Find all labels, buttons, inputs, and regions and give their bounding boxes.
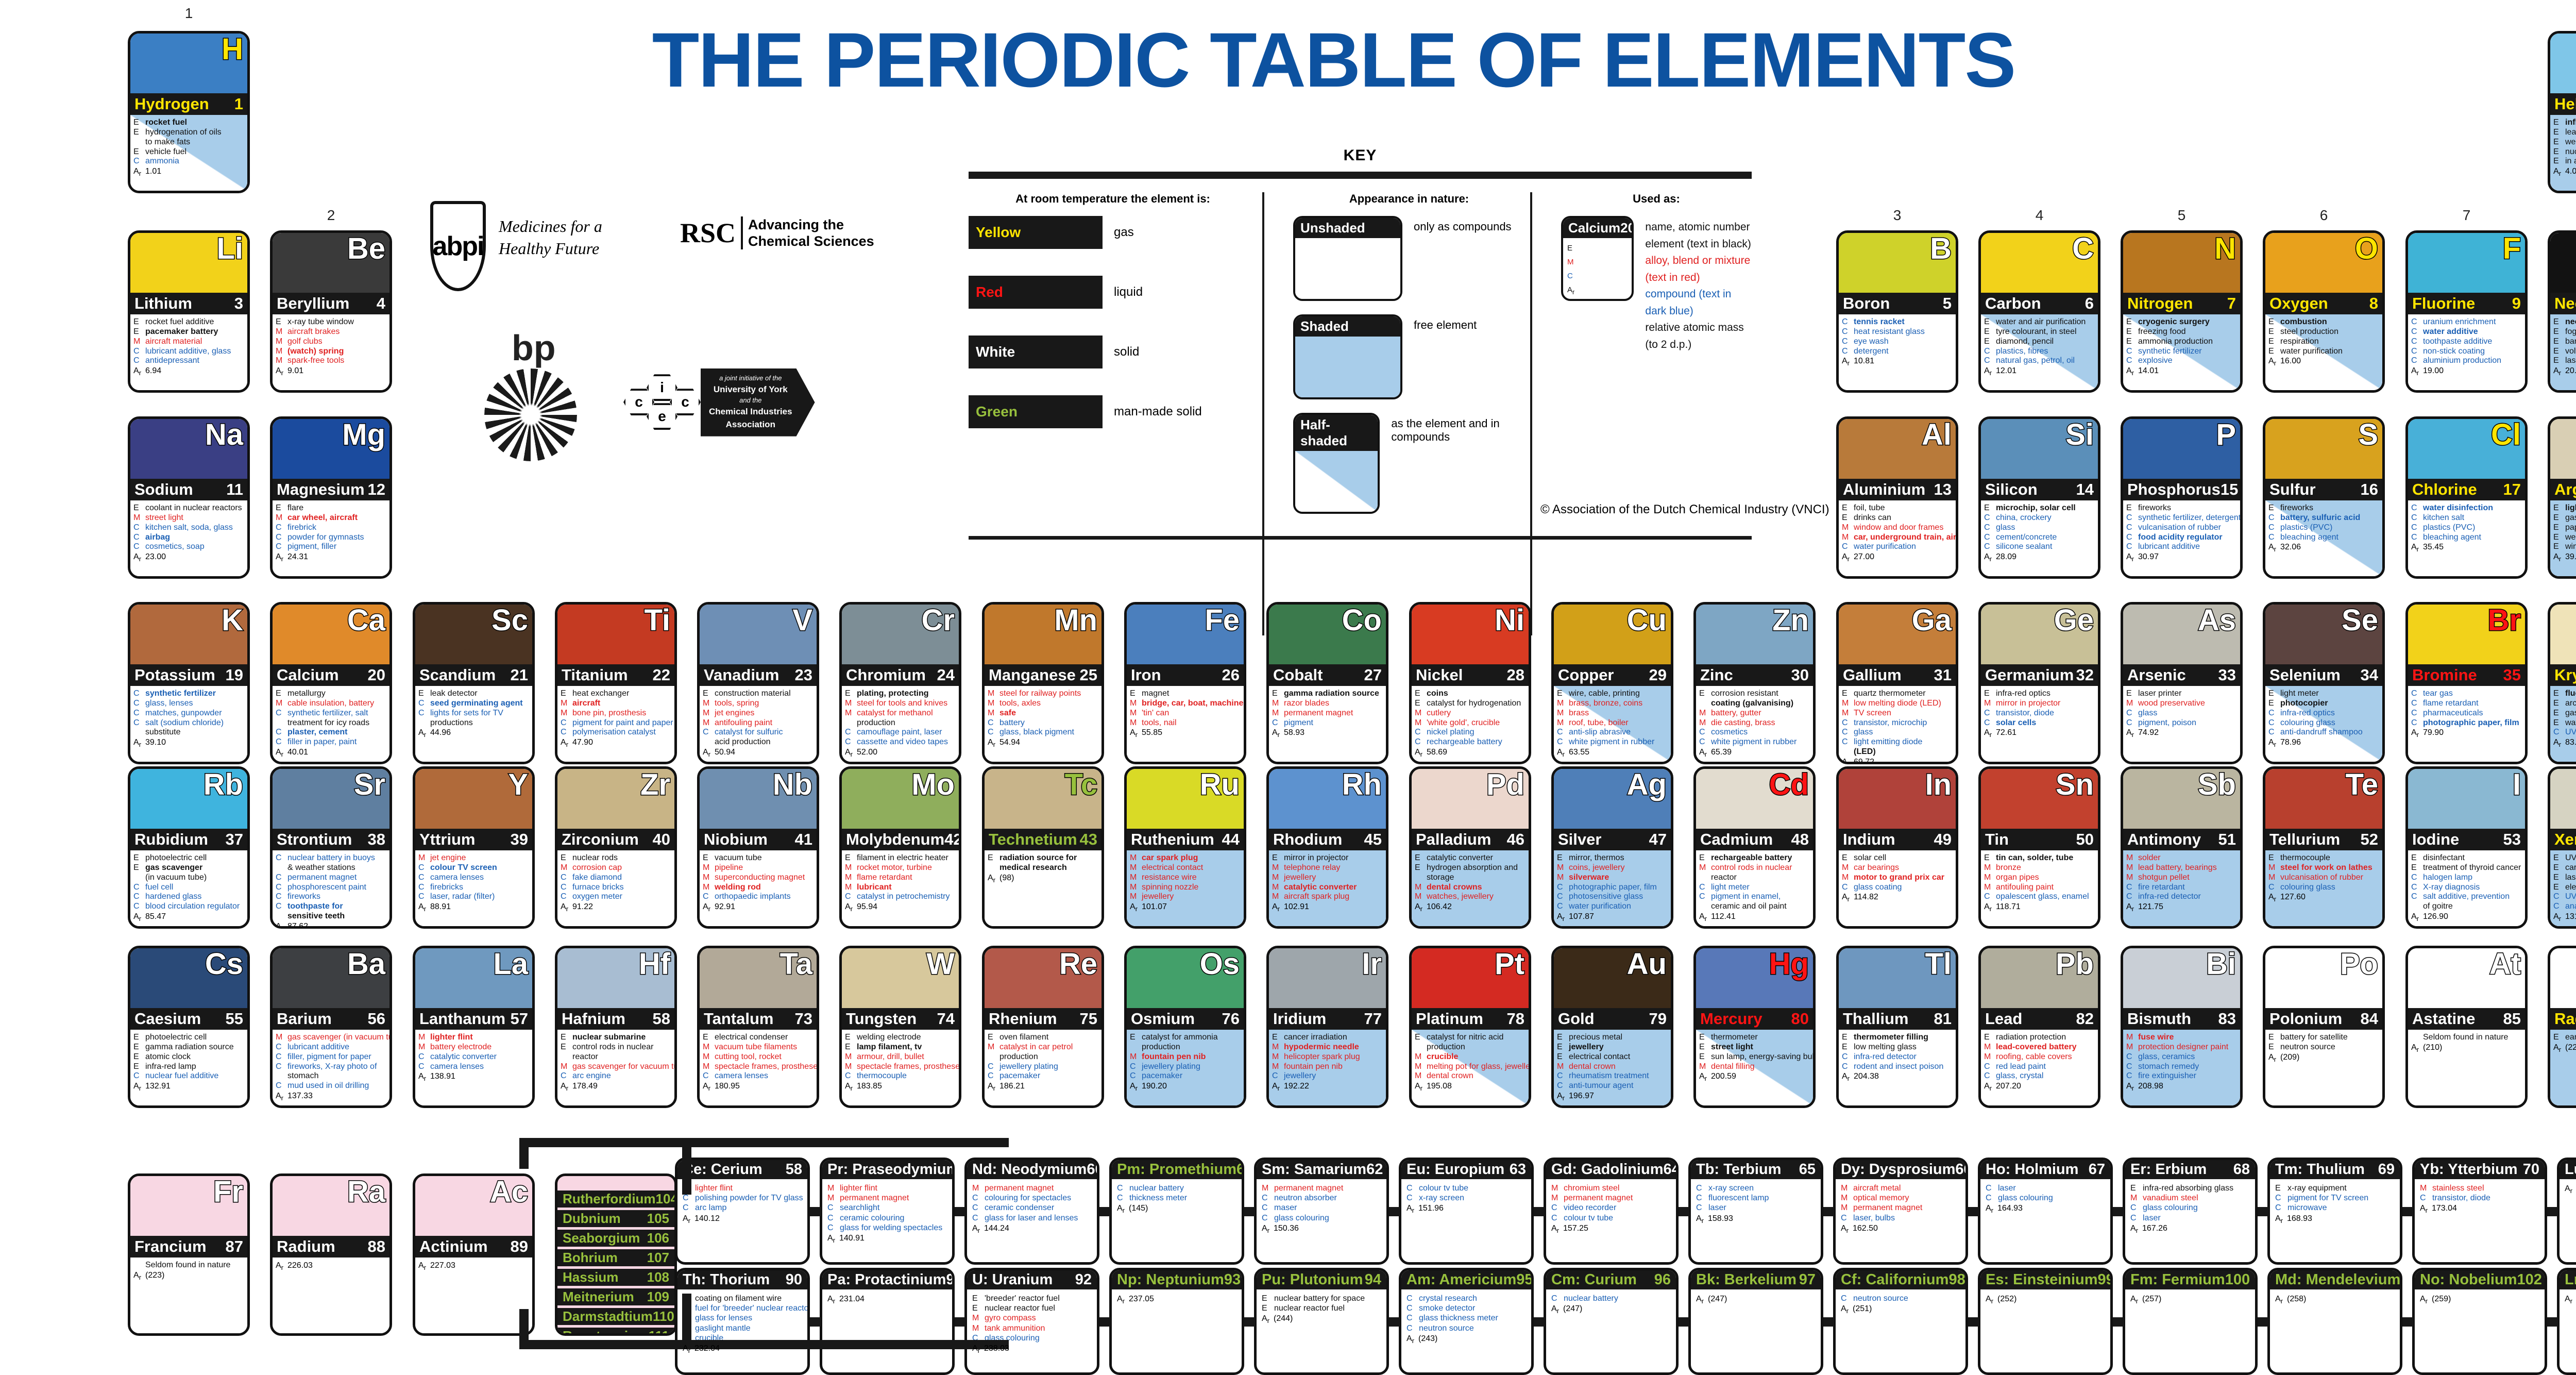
element-uses: Emicrochip, solar cellCchina, crockeryCg… <box>1981 500 2098 576</box>
ar-value: 186.21 <box>999 1082 1025 1093</box>
use-row: Evoltage probe <box>2553 347 2576 357</box>
element-cell-co[interactable]: CoCobalt27Egamma radiation sourceMrazor … <box>1266 602 1388 764</box>
element-cell-be[interactable]: BeBeryllium4Ex-ray tube windowMaircraft … <box>270 230 392 393</box>
series-name-bar: Eu: Europium63 <box>1401 1160 1531 1179</box>
group-number-2: 2 <box>311 207 352 224</box>
use-text: silverware <box>1569 873 1668 883</box>
element-cell-ne[interactable]: NeNeon10Eneon lightEfog light, tv tubeEb… <box>2548 230 2576 393</box>
use-tag: M <box>972 1183 980 1193</box>
element-name-bar: Carbon6 <box>1981 293 2098 314</box>
use-tag: M <box>703 1062 711 1072</box>
element-cell-s[interactable]: SSulfur16EfireworksCbattery, sulfuric ac… <box>2263 416 2385 579</box>
atomic-number: 40 <box>653 830 670 849</box>
use-text: colouring glass <box>2280 718 2379 728</box>
use-row: Ccosmetics, soap <box>133 542 244 552</box>
element-symbol: Y <box>508 770 528 800</box>
lanthanide-cell-yb[interactable]: Yb: Ytterbium70Mstainless steelCtransist… <box>2412 1158 2547 1265</box>
key-appearance-swatch: Shaded <box>1293 314 1402 399</box>
element-cell-ca[interactable]: CaCalcium20EmetallurgyMcable insulation,… <box>270 602 392 764</box>
element-cell-cl[interactable]: ClChlorine17Cwater disinfectionCkitchen … <box>2405 416 2528 579</box>
uses-list: Econstruction materialMtools, springMjet… <box>703 689 814 747</box>
use-row: Cheat resistant glass <box>1842 327 1953 337</box>
use-row: Clight emitting diode <box>1842 737 1953 747</box>
actinide-cell-md[interactable]: Md: Mendelevium101Ar(258) <box>2267 1268 2402 1375</box>
use-tag: C <box>1842 737 1850 747</box>
lanthanide-cell-gd[interactable]: Gd: Gadolinium64Mchromium steelMpermanen… <box>1544 1158 1679 1265</box>
element-cell-cs[interactable]: CsCaesium55Ephotoelectric cellEgamma rad… <box>128 946 250 1108</box>
use-row: production <box>988 1052 1098 1062</box>
element-cell-ta[interactable]: TaTantalum73Eelectrical condenserMvacuum… <box>697 946 819 1108</box>
ar-label: Ar <box>1406 1334 1415 1345</box>
use-tag: C <box>1130 1062 1138 1072</box>
use-row: Mbronze <box>1984 863 2095 873</box>
use-tag: M <box>1841 1203 1849 1213</box>
use-row: Evacuum tube <box>703 853 814 863</box>
use-row: Csynthetic fertilizer <box>133 689 244 699</box>
element-illustration: Rn <box>2550 948 2576 1008</box>
series-element-name: Tm: Thulium <box>2275 1161 2365 1178</box>
element-cell-pd[interactable]: PdPalladium46Ecatalytic converterEhydrog… <box>1409 766 1531 929</box>
use-text: lamp filament, tv <box>857 1043 956 1052</box>
relative-atomic-mass: Ar19.00 <box>2411 366 2522 377</box>
relative-atomic-mass: Ar(243) <box>1406 1334 1527 1345</box>
ar-value: 121.75 <box>2138 902 2163 913</box>
element-cell-rh[interactable]: RhRhodium45Emirror in projectorMtelephon… <box>1266 766 1388 929</box>
key-appearance-row: Unshadedonly as compounds <box>1293 216 1525 301</box>
use-row: Ccolouring for spectacles <box>972 1193 1093 1203</box>
use-row: Mtools, nail <box>1130 718 1241 728</box>
relative-atomic-mass: Ar168.93 <box>2275 1214 2396 1225</box>
ar-label: Ar <box>133 912 142 923</box>
use-text: spectacle frames, prostheses <box>857 1062 959 1072</box>
actinide-cell-pa[interactable]: Pa: Protactinium91Ar231.04 <box>820 1268 955 1375</box>
use-tag: C <box>1984 892 1992 902</box>
superheavy-row[interactable]: Darmstadtium110 <box>557 1308 674 1325</box>
series-element-name: Th: Thorium <box>683 1271 770 1288</box>
element-cell-rn[interactable]: RnRadon86Eearthquake predictorAr(222) <box>2548 946 2576 1108</box>
use-row: Mjet engines <box>703 709 814 718</box>
use-text: anti-tumour agent <box>1569 1081 1668 1091</box>
element-name: Nitrogen <box>2127 294 2193 313</box>
use-text: UV laser <box>2565 728 2576 737</box>
element-illustration: Ni <box>1412 605 1529 664</box>
element-cell-sb[interactable]: SbAntimony51MsolderMlead battery, bearin… <box>2121 766 2243 929</box>
use-text: nuclear battery <box>1564 1294 1618 1303</box>
uses-list: Erocket fuel additiveEpacemaker batteryM… <box>133 317 244 366</box>
lanthanide-cell-er[interactable]: Er: Erbium68Einfra-red absorbing glassMv… <box>2123 1158 2258 1265</box>
element-symbol: F <box>2503 234 2521 264</box>
series-uses: Ar231.04 <box>822 1289 952 1306</box>
use-tag: E <box>1262 1303 1270 1313</box>
element-name-bar: Germanium32 <box>1981 664 2098 686</box>
relative-atomic-mass: Ar208.98 <box>2126 1082 2237 1093</box>
use-row: Eleak detector <box>418 689 529 699</box>
element-cell-ti[interactable]: TiTitanium22Eheat exchangerMaircraftMbon… <box>555 602 677 764</box>
element-uses: Enuclear rodsMcorrosion capCfake diamond… <box>557 850 674 926</box>
element-cell-ac[interactable]: AcActinium89Ar227.03 <box>413 1173 535 1336</box>
element-uses: Cnuclear battery in buoys& weather stati… <box>273 850 389 926</box>
element-symbol: Cs <box>205 949 243 979</box>
element-name: Tellurium <box>2269 830 2340 849</box>
element-cell-ir[interactable]: IrIridium77Ecancer irradiationMhypodermi… <box>1266 946 1388 1108</box>
use-text: nuclear battery <box>1129 1183 1184 1193</box>
element-cell-mo[interactable]: MoMolybdenum42Efilament in electric heat… <box>839 766 961 929</box>
use-text: treatment of thyroid cancer <box>2423 863 2522 873</box>
uses-list: Mjet engineCcolour TV screenCcamera lens… <box>418 853 529 902</box>
uses-list: Esolar cellMcar bearingsMmotor to grand … <box>1842 853 1953 893</box>
use-text: light bulb filling <box>2565 504 2576 513</box>
element-cell-ba[interactable]: BaBarium56Mgas scavenger (in vacuum tube… <box>270 946 392 1108</box>
element-name-bar: Gold79 <box>1554 1008 1671 1030</box>
relative-atomic-mass: Ar65.39 <box>1699 748 1810 759</box>
superheavy-row[interactable]: Seaborgium106 <box>557 1230 674 1247</box>
element-cell-n[interactable]: NNitrogen7Ecryogenic surgeryEfreezing fo… <box>2121 230 2243 393</box>
element-illustration: Cu <box>1554 605 1671 664</box>
element-symbol: La <box>493 949 528 979</box>
use-tag: E <box>988 1033 996 1043</box>
use-row: Ewindow insulation <box>2553 542 2576 552</box>
element-cell-y[interactable]: YYttrium39Mjet engineCcolour TV screenCc… <box>413 766 535 929</box>
use-tag: M <box>561 863 569 873</box>
element-cell-au[interactable]: AuGold79Eprecious metalEjewelleryEelectr… <box>1551 946 1673 1108</box>
element-cell-he[interactable]: HeHelium2Einflating balloons, airshipsEl… <box>2548 31 2576 193</box>
element-uses: Mjet engineCcolour TV screenCcamera lens… <box>415 850 532 926</box>
element-name-bar: Scandium21 <box>415 664 532 686</box>
element-cell-fe[interactable]: FeIron26EmagnetMbridge, car, boat, machi… <box>1124 602 1246 764</box>
use-row: Ebattery for satellite <box>2268 1033 2379 1043</box>
use-text: blood circulation regulator <box>145 902 244 912</box>
use-row: Ccatalyst for sulfuric <box>703 728 814 737</box>
use-tag: C <box>1406 1303 1415 1313</box>
series-uses: Ex-ray equipmentCpigment for TV screenCm… <box>2270 1179 2400 1226</box>
element-illustration: Te <box>2265 769 2382 829</box>
element-name: Chromium <box>846 666 926 684</box>
element-cell-ag[interactable]: AgSilver47Emirror, thermosMcoins, jewell… <box>1551 766 1673 929</box>
use-text: thermocouple <box>2280 853 2379 863</box>
use-text: infra-red detector <box>1854 1052 1953 1062</box>
element-cell-v[interactable]: VVanadium23Econstruction materialMtools,… <box>697 602 819 764</box>
superheavy-row[interactable]: Dubnium105 <box>557 1210 674 1227</box>
key-state-heading: At room temperature the element is: <box>969 192 1257 206</box>
use-tag: E <box>2553 542 2562 552</box>
element-cell-xe[interactable]: XeXenon54EUV lamp, sun lampEcar lampElas… <box>2548 766 2576 929</box>
use-tag: M <box>1984 873 1992 883</box>
use-text: plastics, fibres <box>1996 347 2095 357</box>
lanthanide-cell-pm[interactable]: Pm: Promethium61Cnuclear batteryCthickne… <box>1109 1158 1244 1265</box>
use-row: Ethermometer filling <box>1842 1033 1953 1043</box>
element-cell-pb[interactable]: PbLead82Eradiation protectionMlead-cover… <box>1978 946 2100 1108</box>
element-cell-hf[interactable]: HfHafnium58Enuclear submarineEcontrol ro… <box>555 946 677 1108</box>
relative-atomic-mass: Ar(258) <box>2275 1294 2396 1305</box>
use-text: stainless steel <box>2432 1183 2484 1193</box>
use-row: Msteel for work on lathes <box>2268 863 2379 873</box>
ar-label: Ar <box>2553 1043 2562 1054</box>
uses-list: E'breeder' reactor fuelEnuclear reactor … <box>972 1294 1093 1343</box>
use-text: synthetic fertilizer, salt <box>287 709 386 718</box>
uses-list: MsolderMlead battery, bearingsMshotgun p… <box>2126 853 2237 902</box>
superheavy-row[interactable]: Roentgenium111 <box>557 1328 674 1336</box>
actinide-cell-cm[interactable]: Cm: Curium96Cnuclear batteryAr(247) <box>1544 1268 1679 1375</box>
actinide-cell-pu[interactable]: Pu: Plutonium94Enuclear battery for spac… <box>1254 1268 1389 1375</box>
use-tag: C <box>1696 1183 1704 1193</box>
use-text: plating, protecting <box>857 689 956 699</box>
element-cell-fr[interactable]: FrFrancium87Seldom found in natureAr(223… <box>128 1173 250 1336</box>
use-row: Mmelting pot for glass, jewellery <box>1415 1062 1526 1072</box>
use-tag: E <box>1557 853 1565 863</box>
use-row: Mlow melting diode (LED) <box>1842 699 1953 709</box>
lanthanide-cell-sm[interactable]: Sm: Samarium62Mpermanent magnetCneutron … <box>1254 1158 1389 1265</box>
element-cell-ni[interactable]: NiNickel28EcoinsEcatalyst for hydrogenat… <box>1409 602 1531 764</box>
element-cell-te[interactable]: TeTellurium52EthermocoupleMsteel for wor… <box>2263 766 2385 929</box>
lanthanide-cell-ho[interactable]: Ho: Holmium67ClaserCglass colouringAr164… <box>1978 1158 2113 1265</box>
ar-value: 180.95 <box>715 1082 740 1093</box>
element-name-bar: Magnesium12 <box>273 479 389 500</box>
use-tag: M <box>1557 718 1565 728</box>
lanthanide-cell-ce[interactable]: Ce: Cerium58Mlighter flintCpolishing pow… <box>675 1158 810 1265</box>
use-text: fountain pen nib <box>1142 1052 1241 1062</box>
use-text: coins <box>1427 689 1526 699</box>
relative-atomic-mass: Ar131.29 <box>2553 912 2576 923</box>
element-cell-se[interactable]: SeSelenium34Elight meterEphotocopierCinf… <box>2263 602 2385 764</box>
use-row: Mbridge, car, boat, machine <box>1130 699 1241 709</box>
uses-list: Mcar spark plugMelectrical contactMresis… <box>1130 853 1241 902</box>
lanthanide-cell-nd[interactable]: Nd: Neodymium60Mpermanent magnetCcolouri… <box>964 1158 1099 1265</box>
use-text: ceramic condenser <box>985 1203 1054 1213</box>
use-tag: M <box>1984 863 1992 873</box>
element-cell-po[interactable]: PoPolonium84Ebattery for satelliteEneutr… <box>2263 946 2385 1108</box>
use-tag <box>276 863 284 873</box>
element-cell-cd[interactable]: CdCadmium48Erechargeable batteryMcontrol… <box>1693 766 1816 929</box>
element-illustration: Hf <box>557 948 674 1008</box>
ar-value: 195.08 <box>1427 1082 1452 1093</box>
element-cell-re[interactable]: ReRhenium75Eoven filamentMcatalyst in ca… <box>982 946 1104 1108</box>
use-row: Eheat exchanger <box>561 689 671 699</box>
lanthanide-cell-eu[interactable]: Eu: Europium63Ccolour tv tubeCx-ray scre… <box>1399 1158 1534 1265</box>
element-cell-h[interactable]: HHydrogen1Erocket fuelEhydrogenation of … <box>128 31 250 193</box>
element-uses: Eradiation source formedical researchAr(… <box>985 850 1101 926</box>
element-cell-hg[interactable]: HgMercury80EthermometerEstreet lightEsun… <box>1693 946 1816 1108</box>
lanthanide-connector <box>810 1207 821 1216</box>
use-tag: C <box>1984 718 1992 728</box>
superheavy-row[interactable]: Rutherfordium104 <box>557 1190 674 1208</box>
element-cell-ru[interactable]: RuRuthenium44Mcar spark plugMelectrical … <box>1124 766 1246 929</box>
element-symbol: At <box>2489 949 2521 979</box>
use-text: opalescent glass, enamel <box>1996 892 2095 902</box>
element-cell-mn[interactable]: MnManganese25Msteel for railway pointsMt… <box>982 602 1104 764</box>
element-cell-in[interactable]: InIndium49Esolar cellMcar bearingsMmotor… <box>1836 766 1958 929</box>
element-cell-i[interactable]: IIodine53EdisinfectantEtreatment of thyr… <box>2405 766 2528 929</box>
element-cell-c[interactable]: CCarbon6Ewater and air purificationEtyre… <box>1978 230 2100 393</box>
use-row: Ephotoelectric cell <box>133 1033 244 1043</box>
series-atomic-number: 90 <box>786 1271 802 1288</box>
use-row: Cwater disinfection <box>2411 504 2522 513</box>
actinide-cell-no[interactable]: No: Nobelium102Ar(259) <box>2412 1268 2547 1375</box>
element-cell-bi[interactable]: BiBismuth83Mfuse wireMprotection designe… <box>2121 946 2243 1108</box>
lanthanide-cell-tb[interactable]: Tb: Terbium65Cx-ray screenCfluorescent l… <box>1688 1158 1823 1265</box>
actinide-cell-am[interactable]: Am: Americium95Ccrystal researchCsmoke d… <box>1399 1268 1534 1375</box>
element-cell-si[interactable]: SiSilicon14Emicrochip, solar cellCchina,… <box>1978 416 2100 579</box>
relative-atomic-mass: Ar114.82 <box>1842 893 1953 903</box>
element-cell-al[interactable]: AlAluminium13Efoil, tubeEdrinks canMwind… <box>1836 416 1958 579</box>
use-row: Cceramic colouring <box>827 1213 948 1223</box>
lanthanide-cell-dy[interactable]: Dy: Dysprosium66Maircraft metalMoptical … <box>1833 1158 1968 1265</box>
uses-list: Ewelding electrodeElamp filament, tvMarm… <box>845 1033 956 1081</box>
element-cell-b[interactable]: BBoron5Ctennis racketCheat resistant gla… <box>1836 230 1958 393</box>
atomic-number: 89 <box>511 1237 528 1256</box>
element-illustration: Na <box>130 419 247 479</box>
ar-label: Ar <box>2553 912 2562 923</box>
use-row: Mresistance wire <box>1130 873 1241 883</box>
element-cell-tc[interactable]: TcTechnetium43Eradiation source formedic… <box>982 766 1104 929</box>
use-text: antidepressant <box>145 356 244 366</box>
element-cell-tl[interactable]: TlThallium81Ethermometer fillingElow mel… <box>1836 946 1958 1108</box>
uses-list: Evacuum tubeMpipelineMsuperconducting ma… <box>703 853 814 902</box>
element-cell-o[interactable]: OOxygen8EcombustionEsteel productionEres… <box>2263 230 2385 393</box>
use-row: Efireworks <box>2268 504 2379 513</box>
element-cell-pt[interactable]: PtPlatinum78Ecatalyst for nitric acidpro… <box>1409 946 1531 1108</box>
use-tag: M <box>827 1193 836 1203</box>
element-cell-br[interactable]: BrBromine35Ctear gasCflame retardantCpha… <box>2405 602 2528 764</box>
group-number-3: 3 <box>1877 207 1918 224</box>
element-name-bar: Nitrogen7 <box>2123 293 2240 314</box>
element-name-bar: Francium87 <box>130 1236 247 1257</box>
element-cell-la[interactable]: LaLanthanum57Mlighter flintMbattery elec… <box>413 946 535 1108</box>
actinide-cell-fm[interactable]: Fm: Fermium100Ar(257) <box>2123 1268 2258 1375</box>
superheavy-row[interactable]: Hassium108 <box>557 1269 674 1286</box>
use-row: M'white gold', crucible <box>1415 718 1526 728</box>
lanthanide-cell-pr[interactable]: Pr: Praseodymium59Mlighter flintMpermane… <box>820 1158 955 1265</box>
use-text: water and air purification <box>1996 317 2095 327</box>
lanthanide-cell-lu[interactable]: Lu: Lutetium71Ar174.97 <box>2557 1158 2576 1265</box>
element-cell-sc[interactable]: ScScandium21Eleak detectorCseed germinat… <box>413 602 535 764</box>
element-illustration: Hg <box>1696 948 1813 1008</box>
ar-label: Ar <box>845 1082 853 1093</box>
ar-value: (251) <box>1853 1304 1872 1315</box>
series-element-name: Pa: Protactinium <box>827 1271 946 1288</box>
element-cell-nb[interactable]: NbNiobium41Evacuum tubeMpipelineMsuperco… <box>697 766 819 929</box>
relative-atomic-mass: Ar138.91 <box>418 1072 529 1083</box>
use-tag: E <box>1415 863 1423 873</box>
element-illustration: Ac <box>415 1176 532 1236</box>
series-element-name: Es: Einsteinium <box>1986 1271 2098 1288</box>
use-tag: E <box>1984 853 1992 863</box>
element-cell-k[interactable]: KPotassium19Csynthetic fertilizerCglass,… <box>128 602 250 764</box>
relative-atomic-mass: Ar207.20 <box>1984 1082 2095 1093</box>
element-cell-zr[interactable]: ZrZirconium40Enuclear rodsMcorrosion cap… <box>555 766 677 929</box>
element-uses: Ecatalyst for nitric acidproductionMcruc… <box>1412 1030 1529 1105</box>
relative-atomic-mass: Ar44.96 <box>418 728 529 739</box>
use-row: Egas discharge tube <box>2553 513 2576 523</box>
use-row: Mpermanent magnet <box>827 1193 948 1203</box>
element-uses: Equartz thermometerMlow melting diode (L… <box>1839 686 1956 762</box>
actinide-cell-u[interactable]: U: Uranium92E'breeder' reactor fuelEnucl… <box>964 1268 1099 1375</box>
key-state-row: Greenman-made solid <box>969 395 1257 428</box>
ar-label: Ar <box>2126 728 2134 739</box>
superheavy-row[interactable]: Meitnerium109 <box>557 1288 674 1305</box>
uses-list: Erechargeable batteryMcontrol rods in nu… <box>1699 853 1810 912</box>
actinide-cell-lr[interactable]: Lr: Lawrencium103Ar(260) <box>2557 1268 2576 1375</box>
element-cell-kr[interactable]: KrKrypton36Efluorescent tubeEarc lamp, f… <box>2548 602 2576 764</box>
ar-value: 9.01 <box>287 366 303 377</box>
element-cell-cr[interactable]: CrChromium24Eplating, protectingMsteel f… <box>839 602 961 764</box>
series-atomic-number: 65 <box>1799 1161 1816 1178</box>
use-row: Ccolouring glass <box>2268 718 2379 728</box>
use-row: Cbattery <box>988 718 1098 728</box>
ar-label: Ar <box>133 1082 142 1093</box>
element-cell-mg[interactable]: MgMagnesium12EflareMcar wheel, aircraftC… <box>270 416 392 579</box>
ar-value: 144.24 <box>984 1223 1009 1235</box>
use-row: Mshotgun pellet <box>2126 873 2237 883</box>
superheavy-row[interactable]: Bohrium107 <box>557 1249 674 1266</box>
element-cell-w[interactable]: WTungsten74Ewelding electrodeElamp filam… <box>839 946 961 1108</box>
element-cell-sn[interactable]: SnTin50Etin can, solder, tubeMbronzeMorg… <box>1978 766 2100 929</box>
use-row: Cneutron source <box>1841 1294 1961 1303</box>
element-cell-ra[interactable]: RaRadium88Ar226.03 <box>270 1173 392 1336</box>
lanthanide-cell-tm[interactable]: Tm: Thulium69Ex-ray equipmentCpigment fo… <box>2267 1158 2402 1265</box>
use-tag: C <box>276 542 284 552</box>
element-cell-p[interactable]: PPhosphorus15EfireworksCsynthetic fertil… <box>2121 416 2243 579</box>
element-cell-zn[interactable]: ZnZinc30Ecorrosion resistantcoating (gal… <box>1693 602 1816 764</box>
use-text: light meter <box>2280 689 2379 699</box>
use-text: pigment <box>1284 718 1383 728</box>
element-cell-li[interactable]: LiLithium3Erocket fuel additiveEpacemake… <box>128 230 250 393</box>
relative-atomic-mass: Ar178.49 <box>561 1082 671 1093</box>
use-text: sun lamp, energy-saving bulb <box>1711 1052 1813 1062</box>
use-row: Moptical memory <box>1841 1193 1961 1203</box>
element-cell-as[interactable]: AsArsenic33Elaser printerMwood preservat… <box>2121 602 2243 764</box>
element-cell-f[interactable]: FFluorine9Curanium enrichmentCwater addi… <box>2405 230 2528 393</box>
use-row: Csmoke detector <box>1406 1303 1527 1313</box>
element-cell-sr[interactable]: SrStrontium38Cnuclear battery in buoys& … <box>270 766 392 929</box>
use-row: Cpigment for TV screen <box>2275 1193 2396 1203</box>
use-text: photosensitive glass <box>1569 892 1668 902</box>
use-tag: C <box>1415 737 1423 747</box>
use-tag: M <box>133 513 142 523</box>
use-row: Ckitchen salt, soda, glass <box>133 523 244 533</box>
element-cell-ar[interactable]: ArArgon18Elight bulb fillingEgas dischar… <box>2548 416 2576 579</box>
use-tag: M <box>1272 883 1280 893</box>
element-cell-ge[interactable]: GeGermanium32Einfra-red opticsMmirror in… <box>1978 602 2100 764</box>
actinide-cell-cf[interactable]: Cf: Californium98Cneutron sourceAr(251) <box>1833 1268 1968 1375</box>
use-row: Emirror, thermos <box>1557 853 1668 863</box>
element-cell-os[interactable]: OsOsmium76Ecatalyst for ammoniaproductio… <box>1124 946 1246 1108</box>
actinide-cell-th[interactable]: Th: Thorium90Ecoating on filament wireCf… <box>675 1268 810 1375</box>
element-cell-cu[interactable]: CuCopper29Ewire, cable, printingMbrass, … <box>1551 602 1673 764</box>
element-cell-na[interactable]: NaSodium11Ecoolant in nuclear reactorsMs… <box>128 416 250 579</box>
actinide-cell-bk[interactable]: Bk: Berkelium97Ar(247) <box>1688 1268 1823 1375</box>
element-cell-at[interactable]: AtAstatine85Seldom found in natureAr(210… <box>2405 946 2528 1108</box>
element-cell-ga[interactable]: GaGallium31Equartz thermometerMlow melti… <box>1836 602 1958 764</box>
uses-list: Ecatalyst for ammoniaproductionMfountain… <box>1130 1033 1241 1081</box>
series-uses: Ar(259) <box>2415 1289 2545 1306</box>
use-row: Cx-ray screen <box>1406 1193 1527 1203</box>
actinide-cell-es[interactable]: Es: Einsteinium99Ar(252) <box>1978 1268 2113 1375</box>
use-text: lubricant additive <box>287 1043 386 1052</box>
element-cell-rb[interactable]: RbRubidium37Ephotoelectric cellEgas scav… <box>128 766 250 929</box>
use-row: Cfireworks, X-ray photo of <box>276 1062 386 1072</box>
key-appearance-swatch: Unshaded <box>1293 216 1402 301</box>
bp-helios-icon <box>484 368 577 461</box>
ar-value: 20.12 <box>2565 366 2576 377</box>
page-title: THE PERIODIC TABLE OF ELEMENTS <box>0 15 2576 105</box>
element-uses: Cwater disinfectionCkitchen saltCplastic… <box>2408 500 2525 576</box>
use-row: Ccamera lenses <box>703 1071 814 1081</box>
actinide-cell-np[interactable]: Np: Neptunium93Ar237.05 <box>1109 1268 1244 1375</box>
ar-label: Ar <box>1130 728 1138 739</box>
ar-label: Ar <box>1841 1304 1849 1315</box>
use-row: Ewelding electrode <box>845 1033 956 1043</box>
use-tag: M <box>1842 863 1850 873</box>
